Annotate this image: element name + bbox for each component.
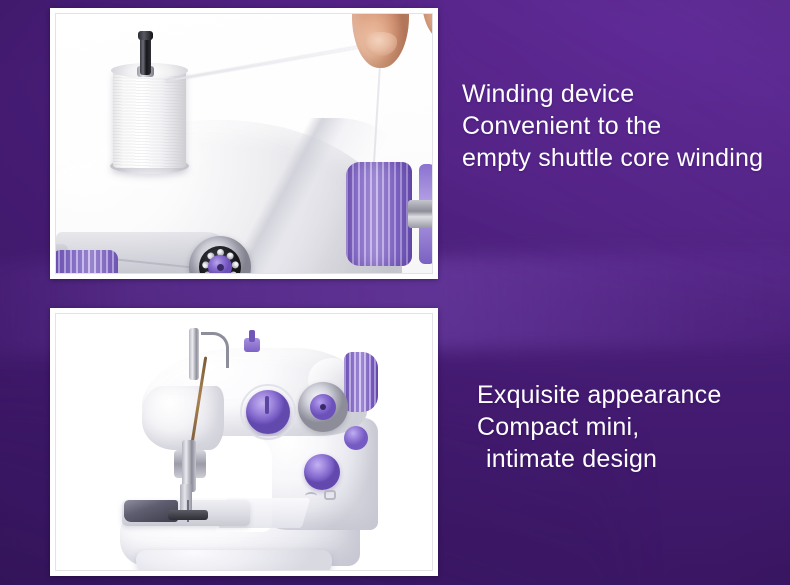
stitch-selector-core (310, 394, 336, 420)
tension-dial (246, 390, 290, 434)
purple-handwheel (346, 162, 412, 266)
caption-line-2: Compact mini, (477, 413, 639, 441)
product-photo-winding (50, 8, 438, 279)
thread-spool (113, 70, 186, 168)
machine-foot-base (136, 550, 332, 571)
control-icon-square (324, 490, 336, 500)
control-icon-curve (305, 492, 317, 500)
thread-guide-post (189, 328, 199, 380)
caption-exquisite-appearance: Exquisite appearance Compact mini, intim… (477, 379, 721, 475)
caption-winding-device: Winding device Convenient to the empty s… (462, 78, 763, 174)
spool-pin (249, 330, 255, 342)
caption-line-3: empty shuttle core winding (462, 144, 763, 172)
caption-line-1: Winding device (462, 80, 634, 108)
handwheel-shaft (408, 200, 433, 228)
speed-button (304, 454, 340, 490)
bobbin-knob-core (208, 255, 232, 274)
reverse-button (344, 426, 368, 450)
photo-frame-winding (55, 13, 433, 274)
caption-line-3: intimate design (477, 443, 721, 475)
presser-foot (168, 510, 208, 520)
caption-line-1: Exquisite appearance (477, 381, 721, 409)
caption-line-2: Convenient to the (462, 112, 661, 140)
spindle-cap (138, 31, 153, 40)
photo-frame-machine (55, 313, 433, 571)
product-photo-machine (50, 308, 438, 576)
left-purple-dial (55, 250, 118, 274)
purple-handwheel (344, 352, 378, 412)
spindle-pin (140, 35, 151, 75)
